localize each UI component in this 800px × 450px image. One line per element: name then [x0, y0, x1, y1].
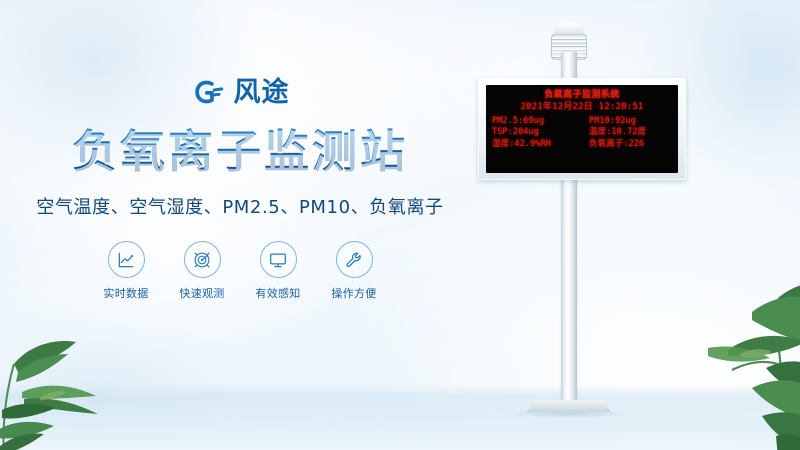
feature-item: 有效感知 [252, 241, 304, 301]
feature-label: 快速观测 [179, 285, 224, 301]
led-datetime: 2021年12月22日 12:20:51 [492, 102, 672, 113]
promo-banner: 风途 负氧离子监测站 空气温度、空气湿度、PM2.5、PM10、负氧离子 实时数… [0, 0, 800, 450]
feature-item: 实时数据 [100, 241, 152, 301]
page-title: 负氧离子监测站 [72, 128, 408, 175]
feature-label: 操作方便 [331, 285, 376, 301]
feature-label: 有效感知 [255, 285, 300, 301]
feature-item: 操作方便 [328, 241, 380, 301]
led-reading-tsp: TSP:204ug [492, 127, 589, 137]
radar-scan-icon [184, 241, 221, 278]
led-display-screen: 负氧离子监测系统 2021年12月22日 12:20:51 PM2.5:69ug… [486, 85, 678, 173]
brand-name: 风途 [234, 79, 290, 106]
led-reading-humidity: 湿度:42.9%RH [492, 139, 589, 149]
led-reading-negative-oxygen-ions: 负氧离子:226 [589, 139, 672, 149]
led-reading-pm10: PM10:92ug [589, 116, 672, 126]
brand-logo: 风途 [191, 72, 290, 112]
led-reading-pm25: PM2.5:69ug [492, 116, 589, 126]
monitor-screen-icon [260, 241, 297, 278]
led-display-frame: 负氧离子监测系统 2021年12月22日 12:20:51 PM2.5:69ug… [478, 78, 686, 180]
monitoring-station: 负氧离子监测系统 2021年12月22日 12:20:51 PM2.5:69ug… [470, 0, 700, 450]
led-title: 负氧离子监测系统 [492, 90, 672, 101]
hero-text-column: 风途 负氧离子监测站 空气温度、空气湿度、PM2.5、PM10、负氧离子 实时数… [0, 72, 480, 301]
feature-list: 实时数据 快速观测 [100, 241, 380, 301]
wrench-icon [336, 241, 373, 278]
line-chart-icon [108, 241, 145, 278]
feature-item: 快速观测 [176, 241, 228, 301]
led-reading-temperature: 温度:10.72度 [589, 127, 672, 137]
fengtu-g-logo-icon [191, 75, 225, 109]
hero-subtitle: 空气温度、空气湿度、PM2.5、PM10、负氧离子 [36, 193, 443, 219]
led-readings: PM2.5:69ug PM10:92ug TSP:204ug 温度:10.72度… [492, 116, 672, 149]
station-base-plate [527, 400, 611, 412]
feature-label: 实时数据 [103, 285, 148, 301]
